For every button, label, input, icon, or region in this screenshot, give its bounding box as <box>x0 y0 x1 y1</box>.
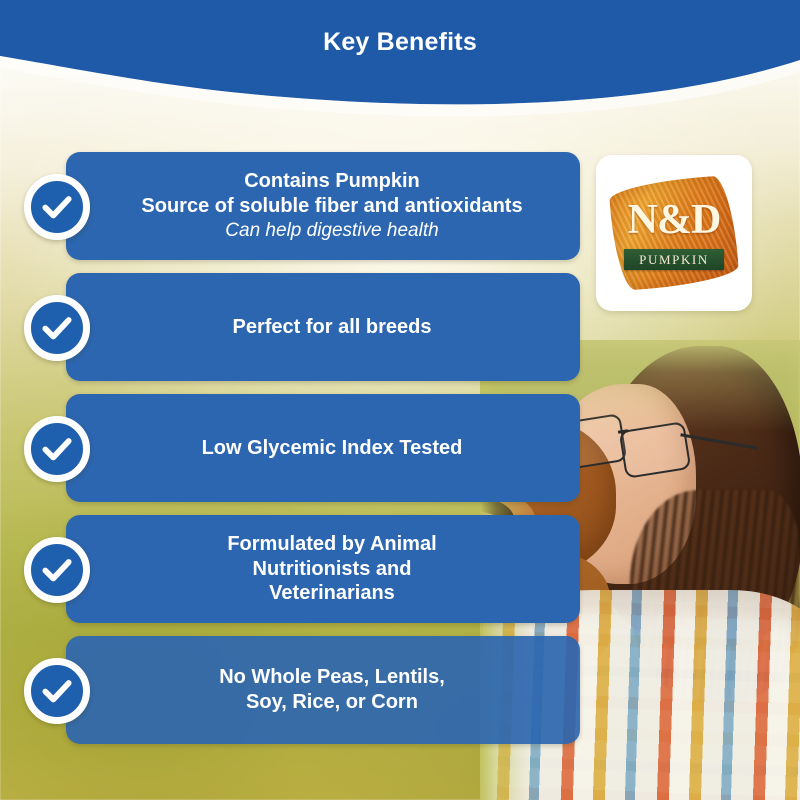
logo-variant-text: PUMPKIN <box>639 252 709 268</box>
benefit-text: Perfect for all breeds <box>233 315 432 340</box>
benefit-text: No Whole Peas, Lentils, Soy, Rice, or Co… <box>219 665 445 715</box>
logo-brand-text: N&D <box>608 199 740 241</box>
benefit-row: Formulated by Animal Nutritionists and V… <box>0 515 800 636</box>
benefit-line: Soy, Rice, or Corn <box>219 690 445 715</box>
check-icon <box>40 311 74 345</box>
check-badge <box>24 295 90 361</box>
nd-pumpkin-logo-tile: N&D PUMPKIN <box>596 155 752 311</box>
benefit-card[interactable]: No Whole Peas, Lentils, Soy, Rice, or Co… <box>66 636 580 744</box>
benefit-line: No Whole Peas, Lentils, <box>219 665 445 690</box>
check-icon <box>40 674 74 708</box>
header-curve-banner <box>0 0 800 130</box>
page-title: Key Benefits <box>0 28 800 57</box>
check-icon <box>40 190 74 224</box>
check-badge <box>24 174 90 240</box>
check-badge <box>24 537 90 603</box>
benefit-line: Nutritionists and <box>227 557 436 582</box>
benefit-line: Low Glycemic Index Tested <box>202 436 463 461</box>
benefit-line: Perfect for all breeds <box>233 315 432 340</box>
benefit-card[interactable]: Formulated by Animal Nutritionists and V… <box>66 515 580 623</box>
benefit-line: Source of soluble fiber and antioxidants <box>141 194 522 219</box>
benefit-line: Formulated by Animal <box>227 532 436 557</box>
benefit-line: Can help digestive health <box>141 219 522 243</box>
key-benefits-infographic: Key Benefits Contains Pumpkin Source of … <box>0 0 800 800</box>
benefit-text: Low Glycemic Index Tested <box>202 436 463 461</box>
benefit-text: Formulated by Animal Nutritionists and V… <box>227 532 436 606</box>
logo-variant-band: PUMPKIN <box>624 249 724 270</box>
benefit-card[interactable]: Perfect for all breeds <box>66 273 580 381</box>
benefit-row: No Whole Peas, Lentils, Soy, Rice, or Co… <box>0 636 800 757</box>
benefit-line: Veterinarians <box>227 581 436 606</box>
benefit-card[interactable]: Low Glycemic Index Tested <box>66 394 580 502</box>
check-icon <box>40 553 74 587</box>
benefit-line: Contains Pumpkin <box>141 169 522 194</box>
check-badge <box>24 416 90 482</box>
benefit-row: Low Glycemic Index Tested <box>0 394 800 515</box>
logo-art: N&D PUMPKIN <box>608 173 740 293</box>
benefit-card[interactable]: Contains Pumpkin Source of soluble fiber… <box>66 152 580 260</box>
benefit-text: Contains Pumpkin Source of soluble fiber… <box>141 169 522 242</box>
check-icon <box>40 432 74 466</box>
check-badge <box>24 658 90 724</box>
